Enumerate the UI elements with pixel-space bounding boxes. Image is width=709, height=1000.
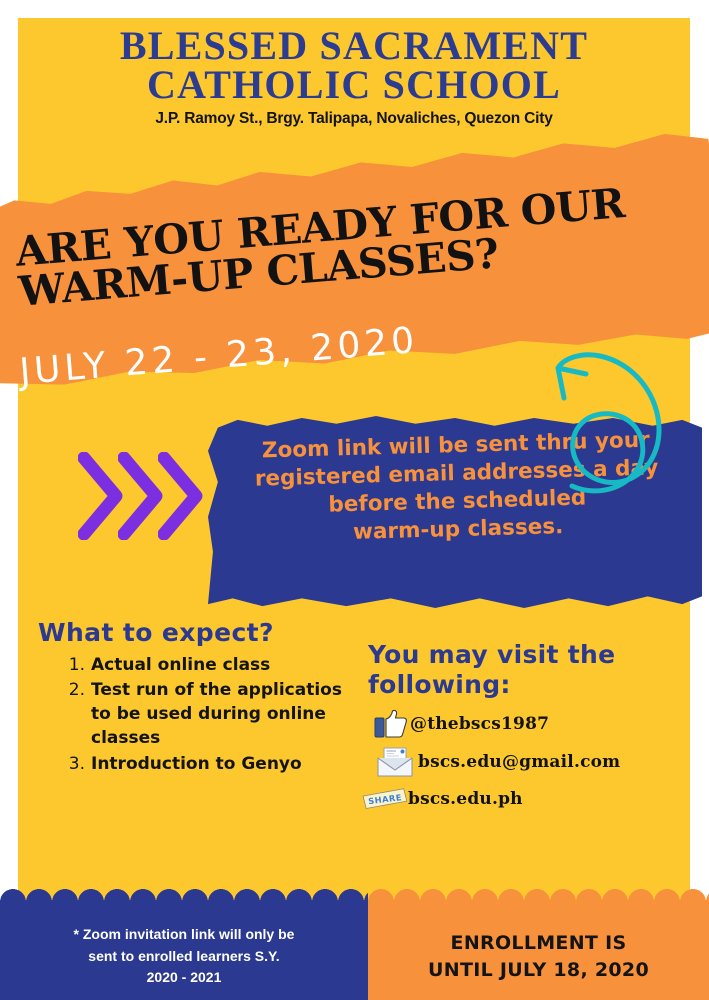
footer-enrollment-text: ENROLLMENT IS UNTIL JULY 18, 2020 <box>372 930 705 984</box>
chevron-right-icon <box>158 452 204 540</box>
list-item: 1. Actual online class <box>38 653 358 677</box>
list-item-number: 3. <box>64 752 85 776</box>
footer-enrollment-line1: ENROLLMENT IS <box>372 930 705 957</box>
list-item-number: 1. <box>64 653 85 677</box>
list-item-label: Actual online class <box>91 653 358 677</box>
list-item-number: 2. <box>64 678 85 702</box>
footer-note-line2: sent to enrolled learners S.Y. <box>14 946 354 968</box>
footer-note-line1: * Zoom invitation link will only be <box>14 924 354 946</box>
contact-email-value: bscs.edu@gmail.com <box>418 752 620 772</box>
list-item: 2. Test run of the applicatios to be use… <box>38 678 358 750</box>
list-item-label: Test run of the applicatios to be used d… <box>91 678 358 750</box>
school-name: BLESSED SACRAMENT CATHOLIC SCHOOL <box>18 26 690 104</box>
what-to-expect-title: What to expect? <box>38 618 358 647</box>
scallop-edge-top <box>0 889 368 902</box>
footer-note-line3: 2020 - 2021 <box>14 967 354 989</box>
contacts-title-line1: You may visit the <box>368 640 615 669</box>
school-name-line2: CATHOLIC SCHOOL <box>18 65 690 104</box>
contacts-title-line2: following: <box>368 670 511 699</box>
list-item-label: Introduction to Genyo <box>91 752 358 776</box>
scallop-edge-top <box>368 889 709 902</box>
contact-facebook[interactable]: @thebscs1987 <box>368 709 698 739</box>
poster-canvas: BLESSED SACRAMENT CATHOLIC SCHOOL J.P. R… <box>0 0 709 1000</box>
what-to-expect-section: What to expect? 1. Actual online class 2… <box>38 618 358 777</box>
thumbs-up-icon <box>368 709 414 739</box>
share-banner-icon: SHARE <box>362 785 408 813</box>
contacts-title: You may visit the following: <box>368 640 698 699</box>
list-item: 3. Introduction to Genyo <box>38 752 358 776</box>
footer-note-text: * Zoom invitation link will only be sent… <box>14 924 354 989</box>
poster-footer: * Zoom invitation link will only be sent… <box>0 902 709 1000</box>
contact-website[interactable]: SHARE bscs.edu.ph <box>362 785 698 813</box>
contact-email[interactable]: bscs.edu@gmail.com <box>372 747 698 777</box>
school-address: J.P. Ramoy St., Brgy. Talipapa, Novalich… <box>18 110 690 128</box>
contact-website-value: bscs.edu.ph <box>408 789 523 809</box>
poster-header: BLESSED SACRAMENT CATHOLIC SCHOOL J.P. R… <box>18 26 690 128</box>
what-to-expect-list: 1. Actual online class 2. Test run of th… <box>38 653 358 776</box>
footer-enrollment-line2: UNTIL JULY 18, 2020 <box>372 957 705 984</box>
contact-facebook-value: @thebscs1987 <box>410 714 549 734</box>
curved-arrow-icon <box>538 340 709 550</box>
contacts-section: You may visit the following: @thebscs198… <box>368 640 698 821</box>
envelope-icon <box>372 747 418 777</box>
